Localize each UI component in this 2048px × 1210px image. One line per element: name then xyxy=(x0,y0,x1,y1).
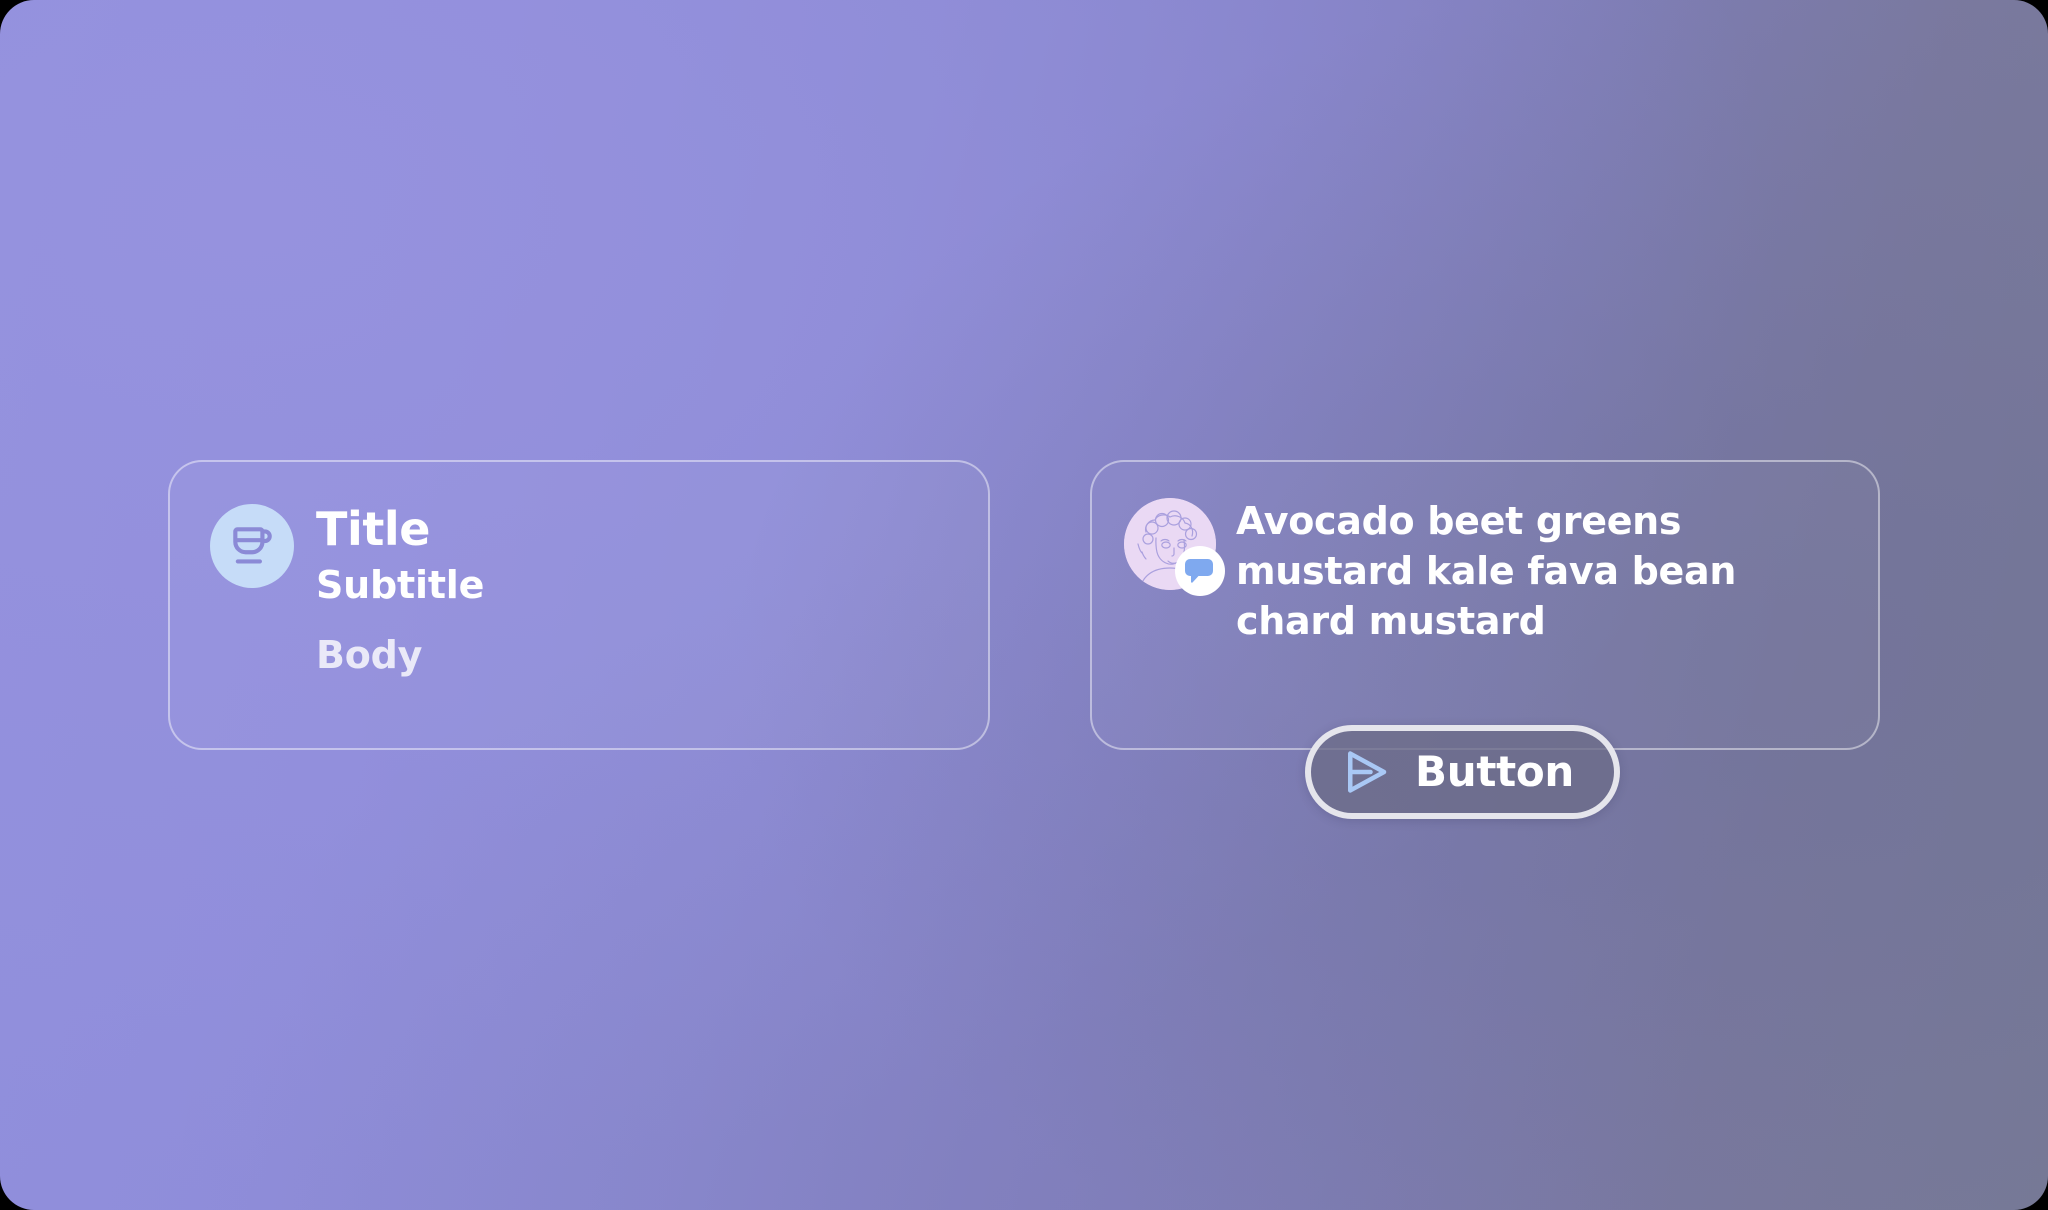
card-body: Body xyxy=(316,632,484,680)
avatar xyxy=(1124,498,1216,590)
send-button[interactable]: Button xyxy=(1305,725,1620,819)
rich-card[interactable]: Avocado beet greens mustard kale fava be… xyxy=(1090,460,1880,750)
send-arrow-icon xyxy=(1339,745,1393,799)
basic-card-text: Title Subtitle Body xyxy=(316,500,484,679)
rich-card-text: Avocado beet greens mustard kale fava be… xyxy=(1236,492,1842,646)
chat-bubble-badge xyxy=(1175,546,1225,596)
preview-canvas: Title Subtitle Body xyxy=(0,0,2048,1210)
card-title: Title xyxy=(316,502,484,556)
basic-card[interactable]: Title Subtitle Body xyxy=(168,460,990,750)
card-row: Title Subtitle Body xyxy=(0,460,2048,760)
coffee-cup-icon xyxy=(210,504,294,588)
send-button-label: Button xyxy=(1415,751,1574,793)
card-subtitle: Subtitle xyxy=(316,562,484,610)
